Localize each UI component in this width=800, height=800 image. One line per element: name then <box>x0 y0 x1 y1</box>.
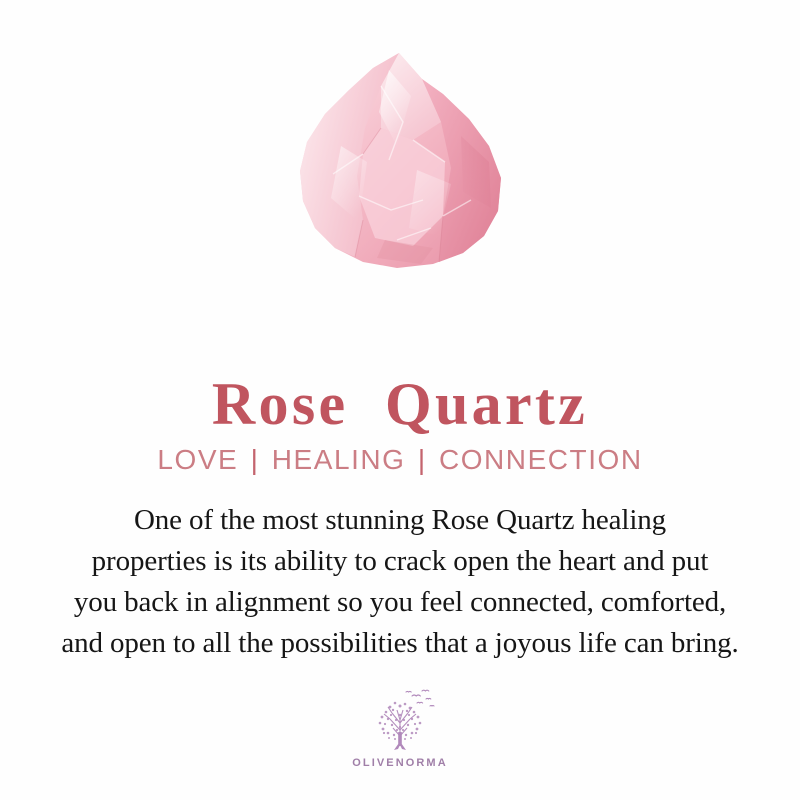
keyword-connection: CONNECTION <box>439 444 643 475</box>
olivenorma-tree-icon <box>362 686 438 754</box>
keyword-separator-2: | <box>415 444 430 475</box>
keyword-healing: HEALING <box>272 444 406 475</box>
rose-quartz-crystal-image <box>293 50 507 282</box>
keyword-separator-1: | <box>248 444 263 475</box>
rose-quartz-infographic-card: Rose Quartz LOVE | HEALING | CONNECTION … <box>0 0 800 800</box>
hero-image-container <box>0 0 800 310</box>
description-line-2: properties is its ability to crack open … <box>28 541 772 582</box>
page-title: Rose Quartz <box>0 372 800 437</box>
brand-logo: OLIVENORMA <box>0 686 800 769</box>
tree-canopy <box>379 702 422 750</box>
description-paragraph: One of the most stunning Rose Quartz hea… <box>28 500 772 664</box>
tree-trunk <box>394 732 406 750</box>
tree-birds <box>406 690 434 706</box>
keyword-love: LOVE <box>157 444 238 475</box>
brand-wordmark: OLIVENORMA <box>352 757 447 769</box>
description-line-1: One of the most stunning Rose Quartz hea… <box>28 500 772 541</box>
description-line-3: you back in alignment so you feel connec… <box>28 582 772 623</box>
keyword-line: LOVE | HEALING | CONNECTION <box>0 443 800 477</box>
description-line-4: and open to all the possibilities that a… <box>28 623 772 664</box>
